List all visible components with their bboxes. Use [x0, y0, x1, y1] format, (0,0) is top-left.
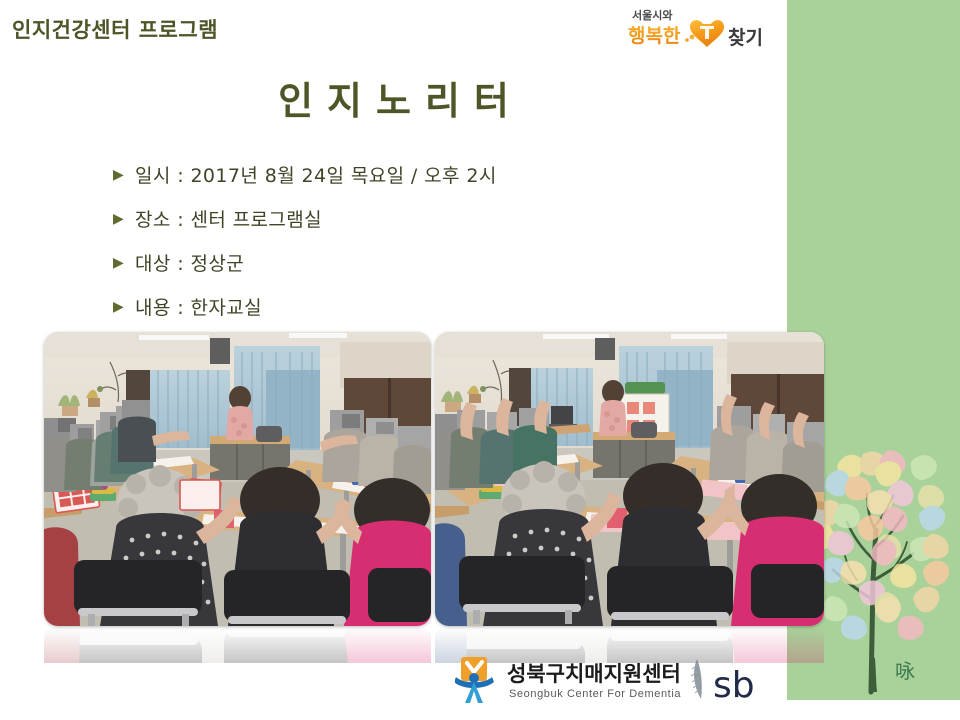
seoul-city-logo: 서울시와 행복한 찾기 — [628, 4, 784, 52]
triangle-bullet-icon: ▶ — [113, 211, 135, 225]
triangle-bullet-icon: ▶ — [113, 255, 135, 269]
logo-english-name: Seongbuk Center For Dementia — [509, 688, 681, 700]
seoul-logo-line2-left: 행복한 — [628, 25, 681, 47]
list-item: ▶ 장소 : 센터 프로그램실 — [113, 196, 733, 240]
seoul-logo-line2-right: 찾기 — [728, 27, 763, 49]
bullet-text-content: 내용 : 한자교실 — [135, 293, 262, 320]
classroom-photo-left — [44, 332, 431, 626]
logo-korean-name: 성북구치매지원센터 — [507, 662, 681, 686]
photo-reflection-left — [44, 627, 431, 663]
seoul-logo-line1: 서울시와 — [632, 8, 672, 22]
triangle-bullet-icon: ▶ — [113, 167, 135, 181]
bullet-text-date: 일시 : 2017년 8월 24일 목요일 / 오후 2시 — [135, 161, 497, 188]
slide-root: 咏 인지건강센터 프로그램 서울시와 행복한 — [0, 0, 960, 720]
list-item: ▶ 일시 : 2017년 8월 24일 목요일 / 오후 2시 — [113, 152, 733, 196]
tree-signature-glyph: 咏 — [895, 659, 915, 683]
classroom-photo-right — [435, 332, 824, 626]
feather-mark — [691, 659, 702, 699]
triangle-bullet-icon: ▶ — [113, 299, 135, 313]
list-item: ▶ 내용 : 한자교실 — [113, 284, 733, 328]
sb-wordmark: sb — [713, 665, 755, 706]
page-header-title: 인지건강센터 프로그램 — [12, 14, 218, 44]
bullet-text-target: 대상 : 정상군 — [135, 249, 244, 276]
page-title: 인지노리터 — [0, 70, 787, 125]
list-item: ▶ 대상 : 정상군 — [113, 240, 733, 284]
info-bullet-list: ▶ 일시 : 2017년 8월 24일 목요일 / 오후 2시 ▶ 장소 : 센… — [113, 152, 733, 328]
seongbuk-dementia-center-logo: 성북구치매지원센터 Seongbuk Center For Dementia s… — [455, 655, 775, 707]
bullet-text-place: 장소 : 센터 프로그램실 — [135, 205, 322, 232]
